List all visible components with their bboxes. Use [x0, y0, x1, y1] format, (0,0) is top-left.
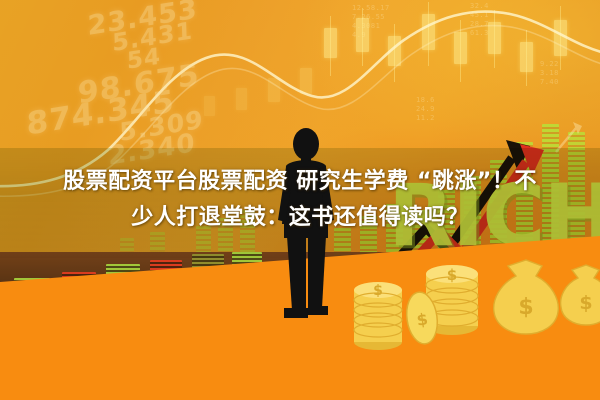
money-icon-group: $ $ $ $ $ — [330, 252, 600, 362]
money-bag-icon: $ — [494, 260, 559, 334]
svg-text:$: $ — [518, 295, 533, 320]
coin-stack-icon: $ — [354, 282, 402, 350]
banner-image: 12.58.17 7.26.55 4.3081 4.9 32.4 45.1 28… — [0, 0, 600, 400]
svg-text:$: $ — [579, 292, 592, 314]
svg-text:$: $ — [447, 266, 457, 284]
headline-line-1: 股票配资平台股票配资 研究生学费 “跳涨”！不 — [0, 164, 600, 200]
money-bag-icon: $ — [561, 265, 600, 325]
headline-line-2: 少人打退堂鼓：这书还值得读吗？ — [0, 200, 600, 236]
svg-text:$: $ — [373, 283, 383, 299]
headline-text: 股票配资平台股票配资 研究生学费 “跳涨”！不 少人打退堂鼓：这书还值得读吗？ — [0, 164, 600, 236]
